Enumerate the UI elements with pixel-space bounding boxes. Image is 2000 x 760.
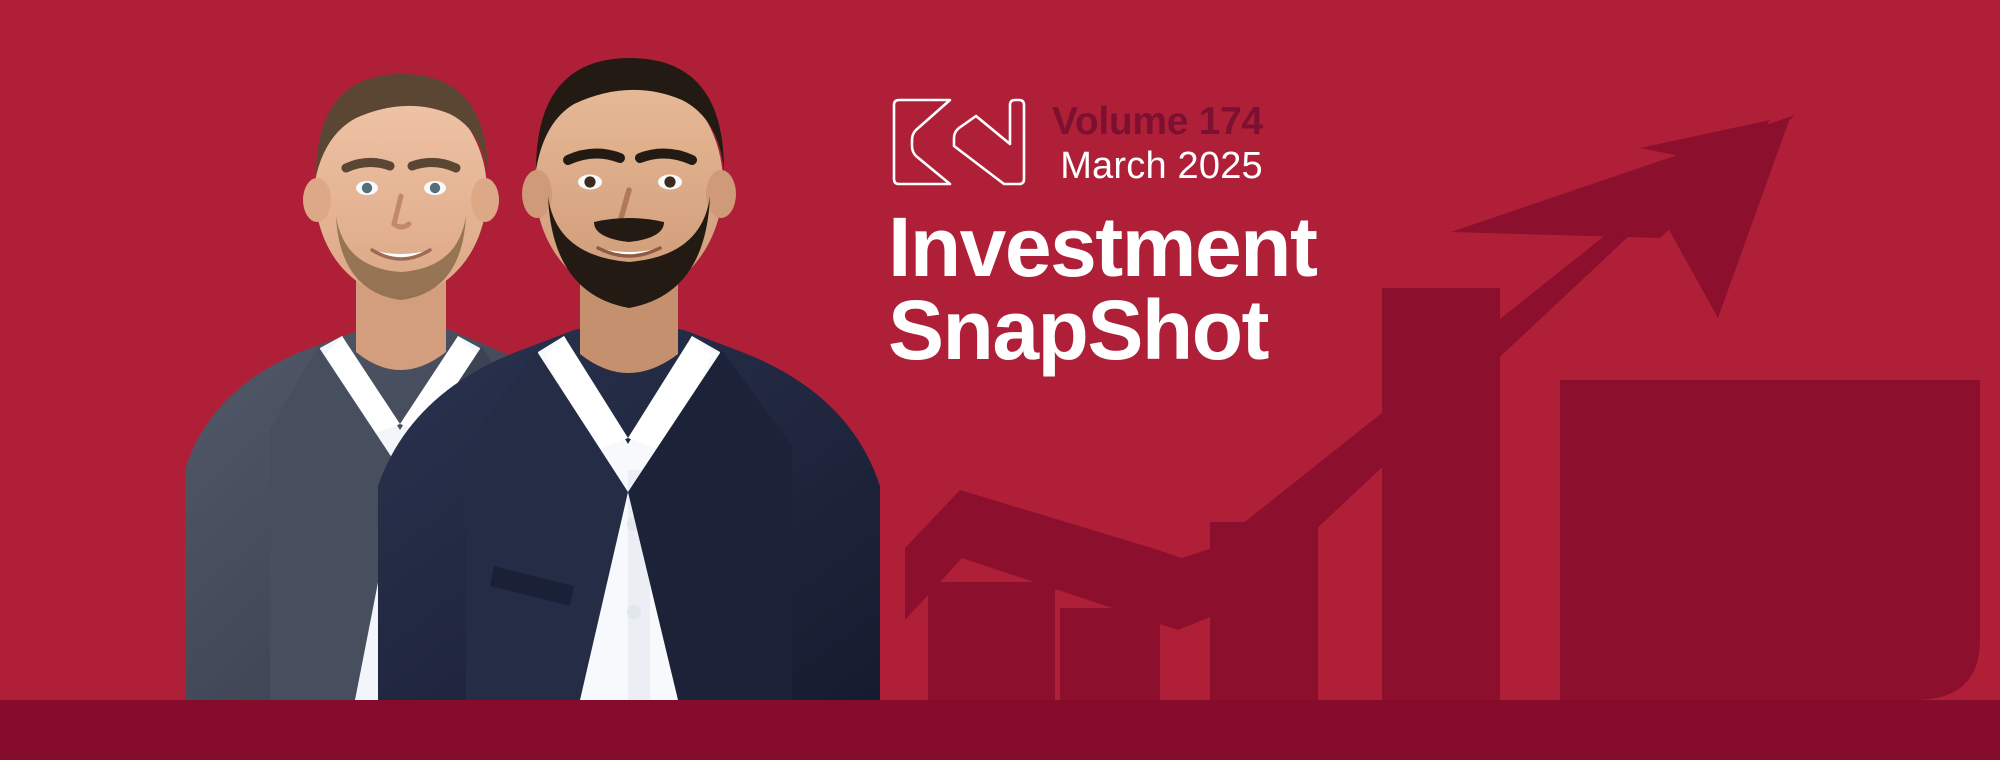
two-businessmen-photo xyxy=(150,0,940,700)
volume-label: Volume 174 xyxy=(1052,102,1263,141)
investment-snapshot-banner: Volume 174 March 2025 Investment SnapSho… xyxy=(0,0,2000,760)
date-label: March 2025 xyxy=(1052,147,1263,185)
headline-block: Volume 174 March 2025 Investment SnapSho… xyxy=(888,96,1316,372)
person-right xyxy=(378,58,880,700)
person-left xyxy=(185,74,602,700)
bottom-accent-bar xyxy=(0,700,2000,760)
issue-meta: Volume 174 March 2025 xyxy=(1052,100,1263,185)
page-title: Investment SnapShot xyxy=(888,206,1316,372)
kn-monogram-icon xyxy=(888,96,1030,188)
brand-row: Volume 174 March 2025 xyxy=(888,96,1263,188)
